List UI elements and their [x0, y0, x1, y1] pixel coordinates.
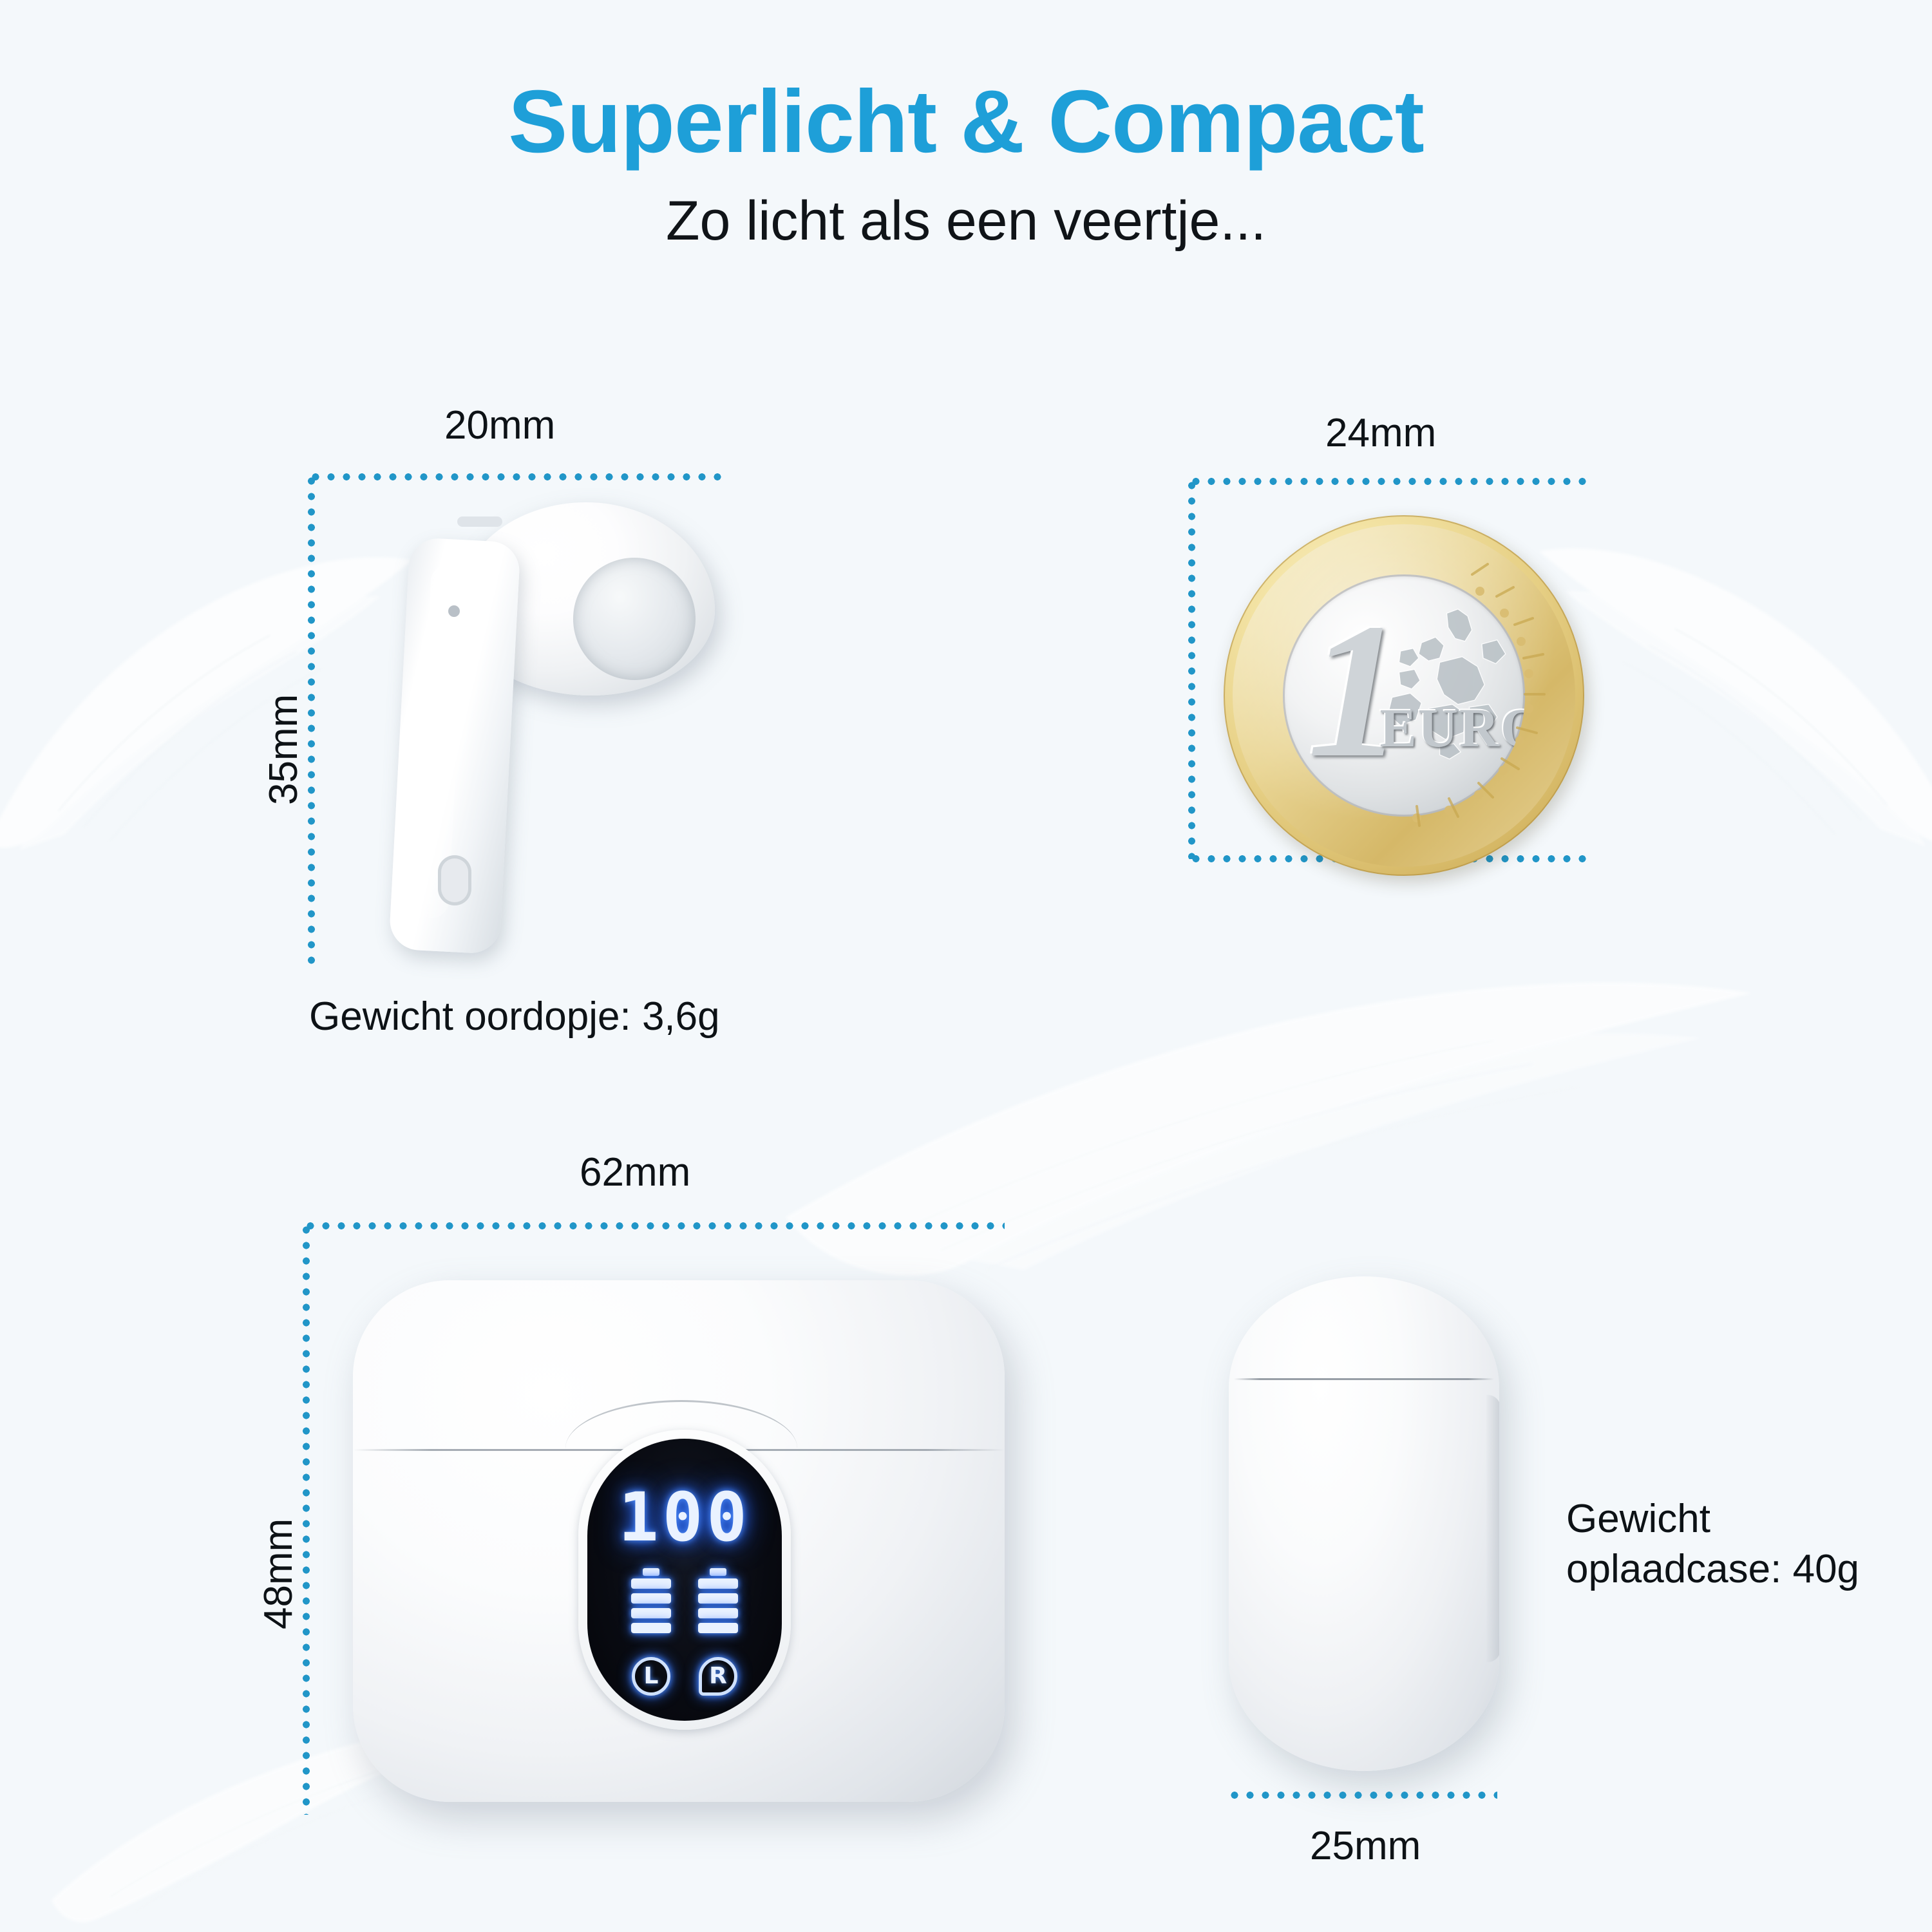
- earbud-width-dotted-line: [308, 473, 724, 480]
- earbud-height-label: 35mm: [264, 694, 304, 805]
- battery-icon-left: [631, 1568, 671, 1638]
- earbud-height-dotted-line: [308, 473, 315, 971]
- left-earbud-indicator: L: [632, 1657, 670, 1696]
- infographic-canvas: Superlicht & Compact Zo licht als een ve…: [0, 0, 1932, 1932]
- coin-stars-arc: [1224, 515, 1584, 876]
- coin-height-dotted-line: [1188, 478, 1195, 859]
- right-earbud-indicator: R: [699, 1657, 737, 1696]
- case-height-label: 48mm: [259, 1519, 299, 1629]
- battery-icon-right: [698, 1568, 738, 1638]
- coin-width-dotted-line: [1188, 478, 1587, 485]
- led-display-bezel: 100 L: [578, 1430, 791, 1730]
- feather-watermark-center: [773, 857, 1777, 1320]
- earbud-product-image: [361, 502, 721, 992]
- case-side-width-label: 25mm: [1310, 1826, 1421, 1866]
- coin-width-label: 24mm: [1325, 413, 1436, 453]
- case-side-seam: [1234, 1378, 1493, 1380]
- case-weight-caption: Gewicht oplaadcase: 40g: [1566, 1494, 1859, 1594]
- charging-case-front-image: 100 L: [353, 1280, 1005, 1802]
- led-display-screen: 100 L: [587, 1439, 782, 1721]
- charging-case-side-image: [1229, 1276, 1499, 1771]
- earbud-width-label: 20mm: [444, 406, 555, 446]
- battery-level-icons: [587, 1568, 782, 1638]
- case-weight-caption-line1: Gewicht: [1566, 1494, 1859, 1544]
- page-title: Superlicht & Compact: [0, 77, 1932, 166]
- case-side-hinge-edge: [1486, 1395, 1499, 1662]
- case-width-label: 62mm: [580, 1153, 690, 1193]
- case-width-dotted-line: [303, 1222, 1005, 1229]
- left-right-indicators: L R: [587, 1657, 782, 1696]
- case-side-width-dotted-line: [1227, 1792, 1497, 1799]
- earbud-weight-caption: Gewicht oordopje: 3,6g: [309, 992, 720, 1042]
- case-weight-caption-line2: oplaadcase: 40g: [1566, 1544, 1859, 1595]
- euro-coin-image: 1 EURO: [1224, 515, 1584, 876]
- case-height-dotted-line: [303, 1222, 310, 1815]
- page-subtitle: Zo licht als een veertje...: [0, 193, 1932, 249]
- battery-percent-readout: 100: [587, 1484, 782, 1551]
